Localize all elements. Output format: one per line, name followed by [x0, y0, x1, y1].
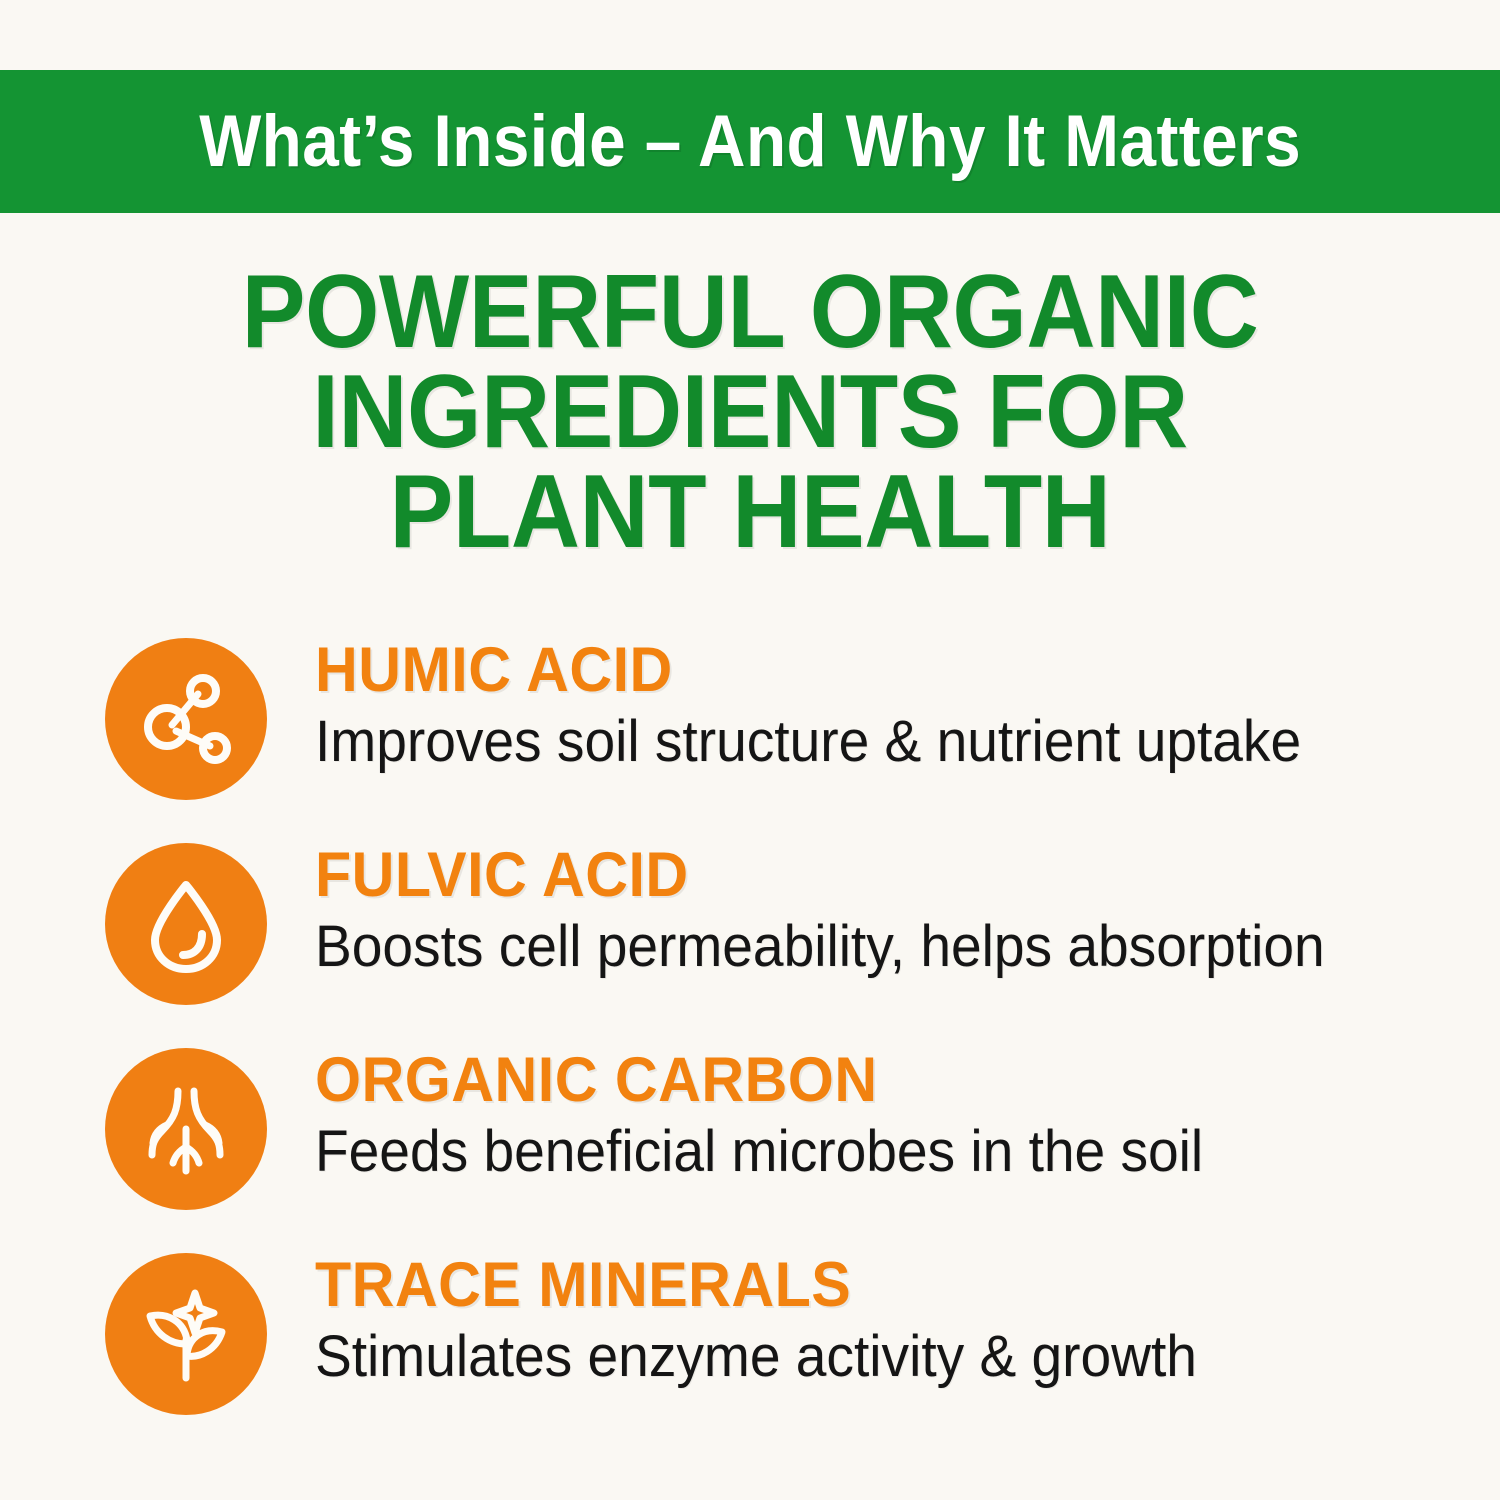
- ingredient-text: FULVIC ACID Boosts cell permeability, he…: [315, 841, 1445, 981]
- ingredient-title: HUMIC ACID: [315, 636, 1377, 704]
- ingredient-description: Boosts cell permeability, helps absorpti…: [315, 913, 1389, 981]
- ingredient-description: Stimulates enzyme activity & growth: [315, 1323, 1389, 1391]
- ingredient-list: HUMIC ACID Improves soil structure & nut…: [0, 638, 1500, 1458]
- icon-badge: [105, 1253, 267, 1415]
- ingredient-description: Feeds beneficial microbes in the soil: [315, 1118, 1389, 1186]
- ingredient-text: TRACE MINERALS Stimulates enzyme activit…: [315, 1251, 1445, 1391]
- ingredient-title: TRACE MINERALS: [315, 1251, 1377, 1319]
- ingredient-row: TRACE MINERALS Stimulates enzyme activit…: [0, 1253, 1500, 1458]
- headline-line-2: INGREDIENTS FOR: [60, 362, 1440, 462]
- water-drop-icon: [134, 872, 238, 976]
- ingredient-title: FULVIC ACID: [315, 841, 1377, 909]
- ingredient-description: Improves soil structure & nutrient uptak…: [315, 708, 1389, 776]
- ingredient-text: ORGANIC CARBON Feeds beneficial microbes…: [315, 1046, 1445, 1186]
- sprout-sparkle-icon: [134, 1282, 238, 1386]
- page-headline: POWERFUL ORGANIC INGREDIENTS FOR PLANT H…: [0, 262, 1500, 562]
- ingredient-row: ORGANIC CARBON Feeds beneficial microbes…: [0, 1048, 1500, 1253]
- header-banner: What’s Inside – And Why It Matters: [0, 70, 1500, 213]
- molecule-icon: [134, 667, 238, 771]
- ingredient-row: HUMIC ACID Improves soil structure & nut…: [0, 638, 1500, 843]
- ingredient-text: HUMIC ACID Improves soil structure & nut…: [315, 636, 1445, 776]
- ingredient-title: ORGANIC CARBON: [315, 1046, 1377, 1114]
- plant-roots-icon: [134, 1077, 238, 1181]
- headline-line-1: POWERFUL ORGANIC: [60, 262, 1440, 362]
- headline-line-3: PLANT HEALTH: [60, 462, 1440, 562]
- banner-title: What’s Inside – And Why It Matters: [199, 105, 1301, 178]
- icon-badge: [105, 638, 267, 800]
- icon-badge: [105, 843, 267, 1005]
- ingredient-row: FULVIC ACID Boosts cell permeability, he…: [0, 843, 1500, 1048]
- icon-badge: [105, 1048, 267, 1210]
